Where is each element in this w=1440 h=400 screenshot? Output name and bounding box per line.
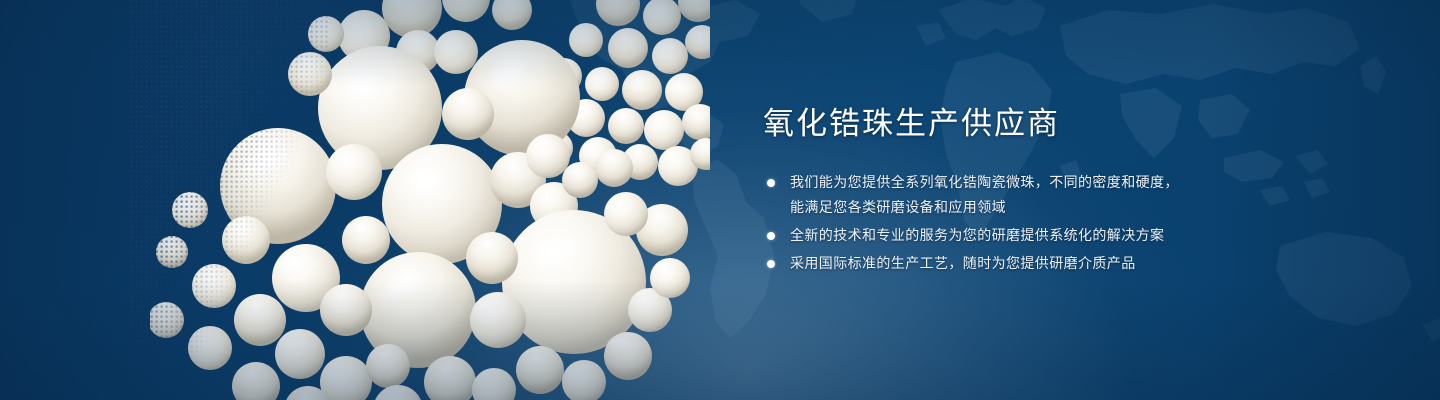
bullet-dot-icon [767,232,775,240]
banner-content: 氧化锆珠生产供应商 我们能为您提供全系列氧化锆陶瓷微珠，不同的密度和硬度， 能满… [763,104,1323,279]
hero-banner: 氧化锆珠生产供应商 我们能为您提供全系列氧化锆陶瓷微珠，不同的密度和硬度， 能满… [0,0,1440,400]
feature-text-line: 全新的技术和专业的服务为您的研磨提供系统化的解决方案 [790,223,1323,248]
feature-list: 我们能为您提供全系列氧化锆陶瓷微珠，不同的密度和硬度， 能满足您各类研磨设备和应… [763,170,1323,276]
feature-text-line: 能满足您各类研磨设备和应用领域 [790,195,1323,220]
bullet-dot-icon [767,260,775,268]
feature-list-item: 采用国际标准的生产工艺，随时为您提供研磨介质产品 [763,251,1323,276]
feature-text-line: 我们能为您提供全系列氧化锆陶瓷微珠，不同的密度和硬度， [790,170,1323,195]
banner-headline: 氧化锆珠生产供应商 [763,104,1323,144]
feature-list-item: 全新的技术和专业的服务为您的研磨提供系统化的解决方案 [763,223,1323,248]
feature-list-item: 我们能为您提供全系列氧化锆陶瓷微珠，不同的密度和硬度， 能满足您各类研磨设备和应… [763,170,1323,220]
feature-text-line: 采用国际标准的生产工艺，随时为您提供研磨介质产品 [790,251,1323,276]
bullet-dot-icon [767,179,775,187]
